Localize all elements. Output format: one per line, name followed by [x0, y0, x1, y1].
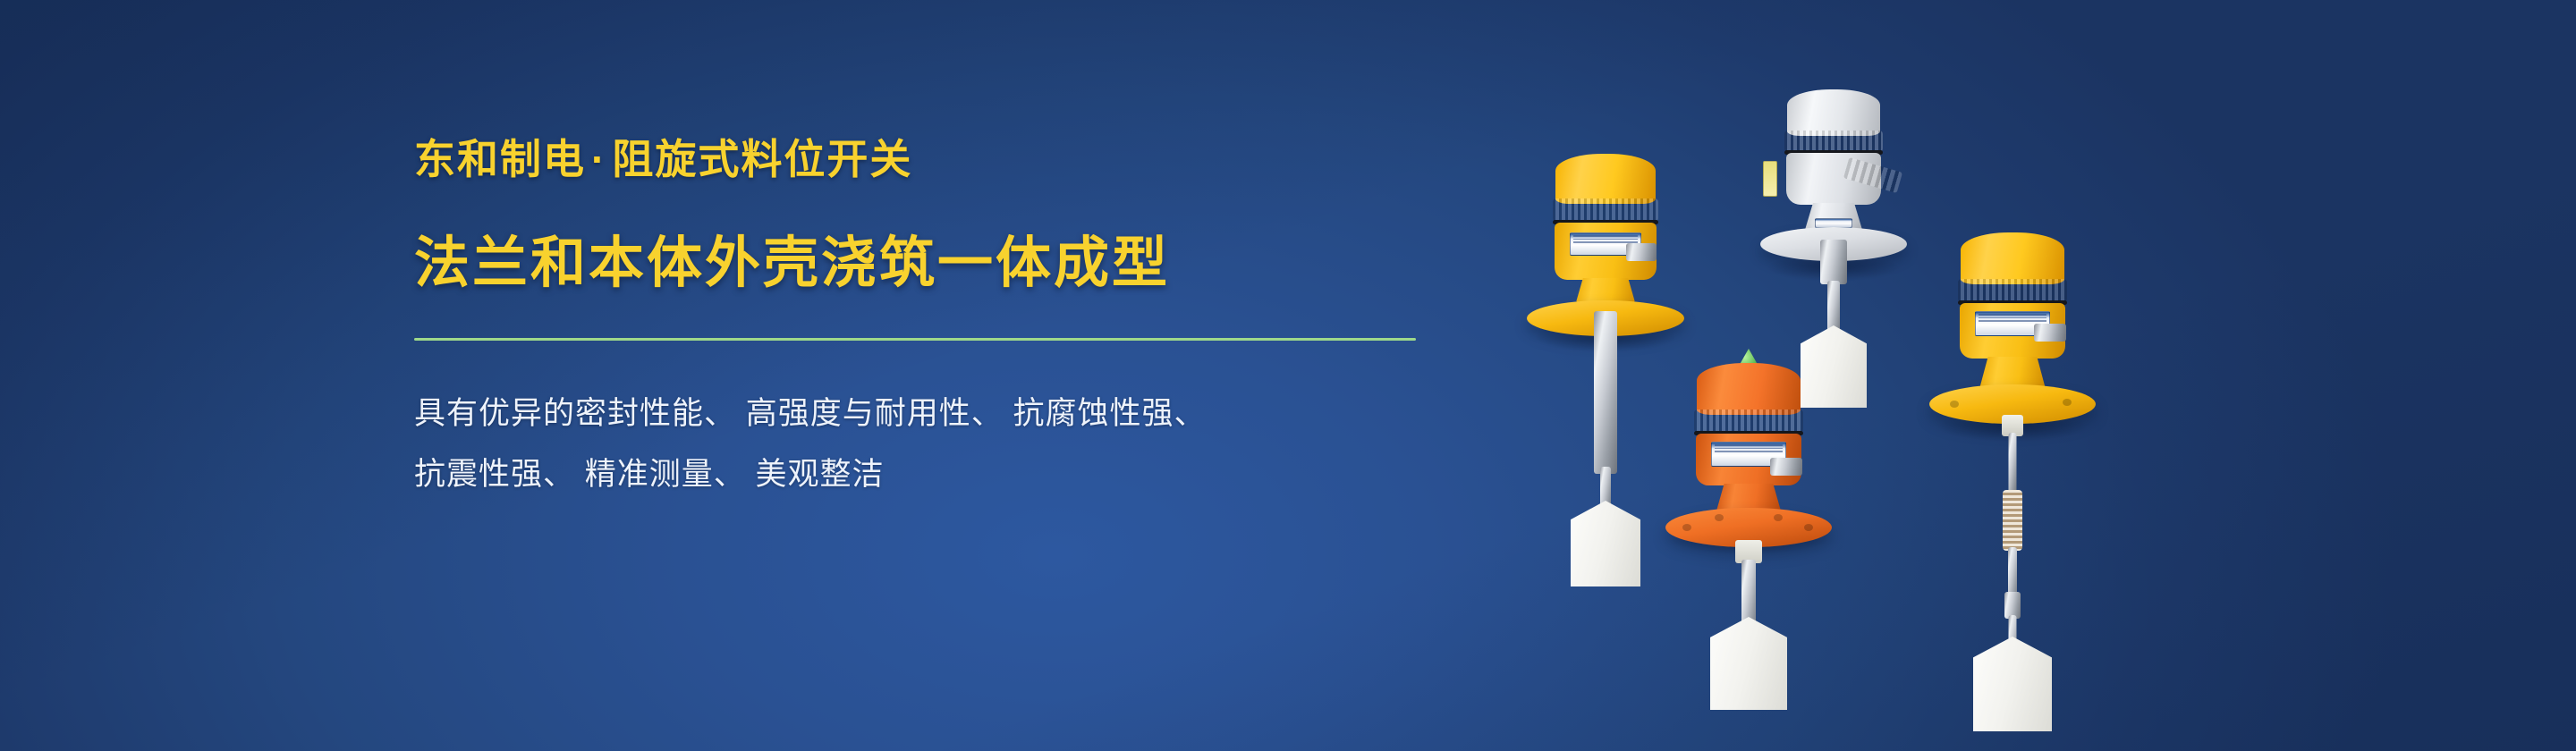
flange-bolt-icon: [1804, 524, 1813, 531]
enclosure-knurl-icon: [1553, 198, 1658, 222]
enclosure-knurl-icon: [1958, 279, 2067, 302]
kicker-separator: ·: [586, 136, 612, 182]
enclosure-cap-icon: [1555, 154, 1656, 204]
conduit-entry-icon: [1770, 458, 1802, 476]
probe-paddle-icon: [1571, 501, 1640, 586]
enclosure-knurl-icon: [1784, 131, 1883, 152]
probe-paddle-icon: [1973, 637, 2052, 731]
enclosure-cap-icon: [1961, 232, 2064, 284]
probe-spring-icon: [2003, 490, 2022, 551]
headline-divider: [414, 338, 1416, 341]
product-nameplate-icon: [1763, 161, 1777, 197]
banner-copy-block: 东和制电·阻旋式料位开关 法兰和本体外壳浇筑一体成型 具有优异的密封性能、 高强…: [414, 134, 1470, 505]
conduit-entry-icon: [2034, 324, 2066, 342]
enclosure-cap-icon: [1697, 363, 1801, 415]
extension-cable-icon: [2009, 433, 2017, 495]
enclosure-cap-icon: [1787, 89, 1880, 136]
product-rotary-level-switch-yellow-cable: [1923, 224, 2102, 706]
description-line-1: 具有优异的密封性能、 高强度与耐用性、 抗腐蚀性强、: [414, 384, 1470, 444]
brand-name: 东和制电: [414, 136, 586, 182]
flange-bolt-icon: [2063, 399, 2072, 406]
product-rotary-level-switch-orange: [1659, 349, 1838, 697]
flange-bolt-icon: [1774, 514, 1783, 521]
enclosure-knurl-icon: [1694, 409, 1803, 433]
flange-bolt-icon: [1950, 401, 1959, 408]
flange-bolt-icon: [1682, 524, 1691, 531]
banner-headline: 法兰和本体外壳浇筑一体成型: [414, 231, 1470, 297]
conduit-entry-icon: [1626, 243, 1657, 261]
flange-bolt-icon: [1715, 514, 1724, 521]
probe-shaft-icon: [1820, 240, 1847, 284]
description-line-2: 抗震性强、 精准测量、 美观整洁: [414, 444, 1470, 505]
probe-paddle-icon: [1710, 617, 1787, 710]
probe-shaft-icon: [1594, 311, 1617, 474]
banner-description: 具有优异的密封性能、 高强度与耐用性、 抗腐蚀性强、 抗震性强、 精准测量、 美…: [414, 384, 1470, 506]
banner-kicker: 东和制电·阻旋式料位开关: [414, 134, 1470, 186]
product-hero-banner: 东和制电·阻旋式料位开关 法兰和本体外壳浇筑一体成型 具有优异的密封性能、 高强…: [0, 0, 2576, 751]
product-category: 阻旋式料位开关: [612, 136, 912, 182]
